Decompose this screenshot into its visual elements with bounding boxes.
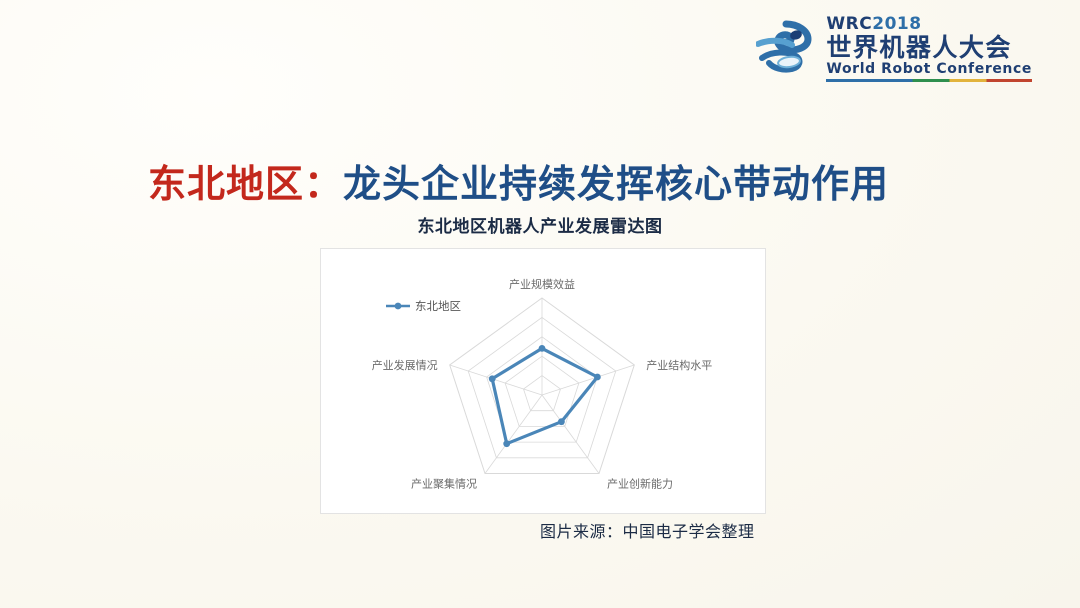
radar-data-point[interactable] xyxy=(503,440,510,447)
radar-data-point[interactable] xyxy=(489,375,496,382)
page-title-highlight: 东北地区： xyxy=(148,162,343,206)
logo-chinese-name: 世界机器人大会 xyxy=(826,35,1012,60)
legend-label-east-north: 东北地区 xyxy=(415,299,461,313)
logo-wrc-text: WRC xyxy=(826,14,872,34)
logo-wrc-year: WRC2018 xyxy=(826,16,921,33)
page-title: 东北地区：龙头企业持续发挥核心带动作用 xyxy=(148,153,889,208)
chart-legend[interactable]: 东北地区 xyxy=(386,299,461,313)
source-note: 图片来源：中国电子学会整理 xyxy=(540,518,755,542)
radar-data-point[interactable] xyxy=(539,345,546,352)
radar-axis-label: 产业聚集情况 xyxy=(411,477,477,491)
radar-axis-label: 产业结构水平 xyxy=(646,358,712,372)
radar-chart: 产业规模效益产业结构水平产业创新能力产业聚集情况产业发展情况 东北地区 xyxy=(320,248,766,514)
logo-year-text: 2018 xyxy=(872,14,921,34)
legend-marker-icon xyxy=(395,303,402,310)
radar-data-point[interactable] xyxy=(558,418,565,425)
chart-title: 东北地区机器人产业发展雷达图 xyxy=(0,212,1080,237)
logo-english-name: World Robot Conference xyxy=(826,62,1032,76)
radar-series-outline xyxy=(492,348,597,443)
radar-axis-label: 产业规模效益 xyxy=(509,277,575,291)
radar-axis-label: 产业创新能力 xyxy=(607,477,673,491)
radar-axis-label: 产业发展情况 xyxy=(372,358,438,372)
wrc-logo: WRC2018 世界机器人大会 World Robot Conference xyxy=(756,16,1032,82)
radar-series-east-north xyxy=(489,345,601,447)
radar-grid xyxy=(450,298,635,474)
page-title-rest: 龙头企业持续发挥核心带动作用 xyxy=(343,162,889,206)
radar-data-point[interactable] xyxy=(594,374,601,381)
radar-spoke xyxy=(542,395,599,474)
robot-bird-logo-icon xyxy=(756,20,818,78)
logo-color-rule xyxy=(826,79,1032,82)
